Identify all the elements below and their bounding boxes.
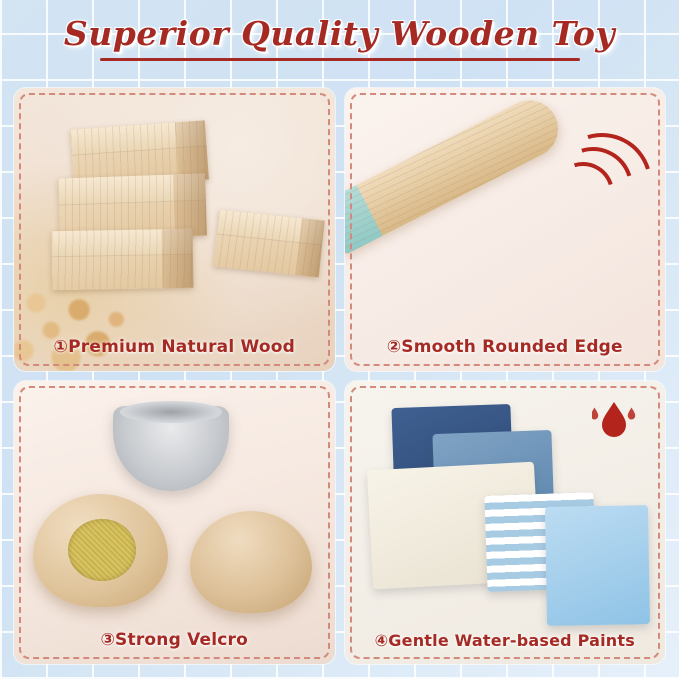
feature-grid: ①Premium Natural Wood ②Smooth Rounded Ed… <box>14 88 665 664</box>
feature-card-strong-velcro: ③Strong Velcro <box>14 381 335 664</box>
wooden-knife <box>345 91 568 255</box>
product-feature-poster: Superior Quality Wooden Toy <box>0 0 679 679</box>
feature-caption-4: ④Gentle Water-based Paints <box>345 631 666 650</box>
wood-block-right <box>213 210 324 277</box>
paint-swatch-sky-blue <box>545 505 650 626</box>
wood-block-bottom <box>52 228 194 290</box>
feature-caption-3: ③Strong Velcro <box>14 630 335 650</box>
title-underline <box>100 58 580 61</box>
feature-caption-1: ①Premium Natural Wood <box>14 337 335 357</box>
wooden-half-sphere-left <box>33 494 168 607</box>
page-title: Superior Quality Wooden Toy <box>64 14 615 53</box>
feature-card-premium-natural-wood: ①Premium Natural Wood <box>14 88 335 371</box>
photo-wooden-blocks <box>14 88 335 371</box>
metal-bowl <box>113 406 228 491</box>
water-drop-icon <box>592 398 636 442</box>
velcro-pad <box>68 519 135 581</box>
feature-caption-2: ②Smooth Rounded Edge <box>345 337 666 357</box>
photo-velcro-halves <box>14 381 335 664</box>
feature-card-gentle-water-based-paints: ④Gentle Water-based Paints <box>345 381 666 664</box>
wood-grain <box>52 228 194 290</box>
page-title-wrapper: Superior Quality Wooden Toy <box>0 14 679 61</box>
photo-paint-swatches <box>345 381 666 664</box>
wood-grain <box>213 210 324 277</box>
wooden-half-sphere-right <box>190 511 312 613</box>
photo-wooden-knife <box>345 88 666 371</box>
feature-card-smooth-rounded-edge: ②Smooth Rounded Edge <box>345 88 666 371</box>
wood-grain <box>345 91 568 255</box>
